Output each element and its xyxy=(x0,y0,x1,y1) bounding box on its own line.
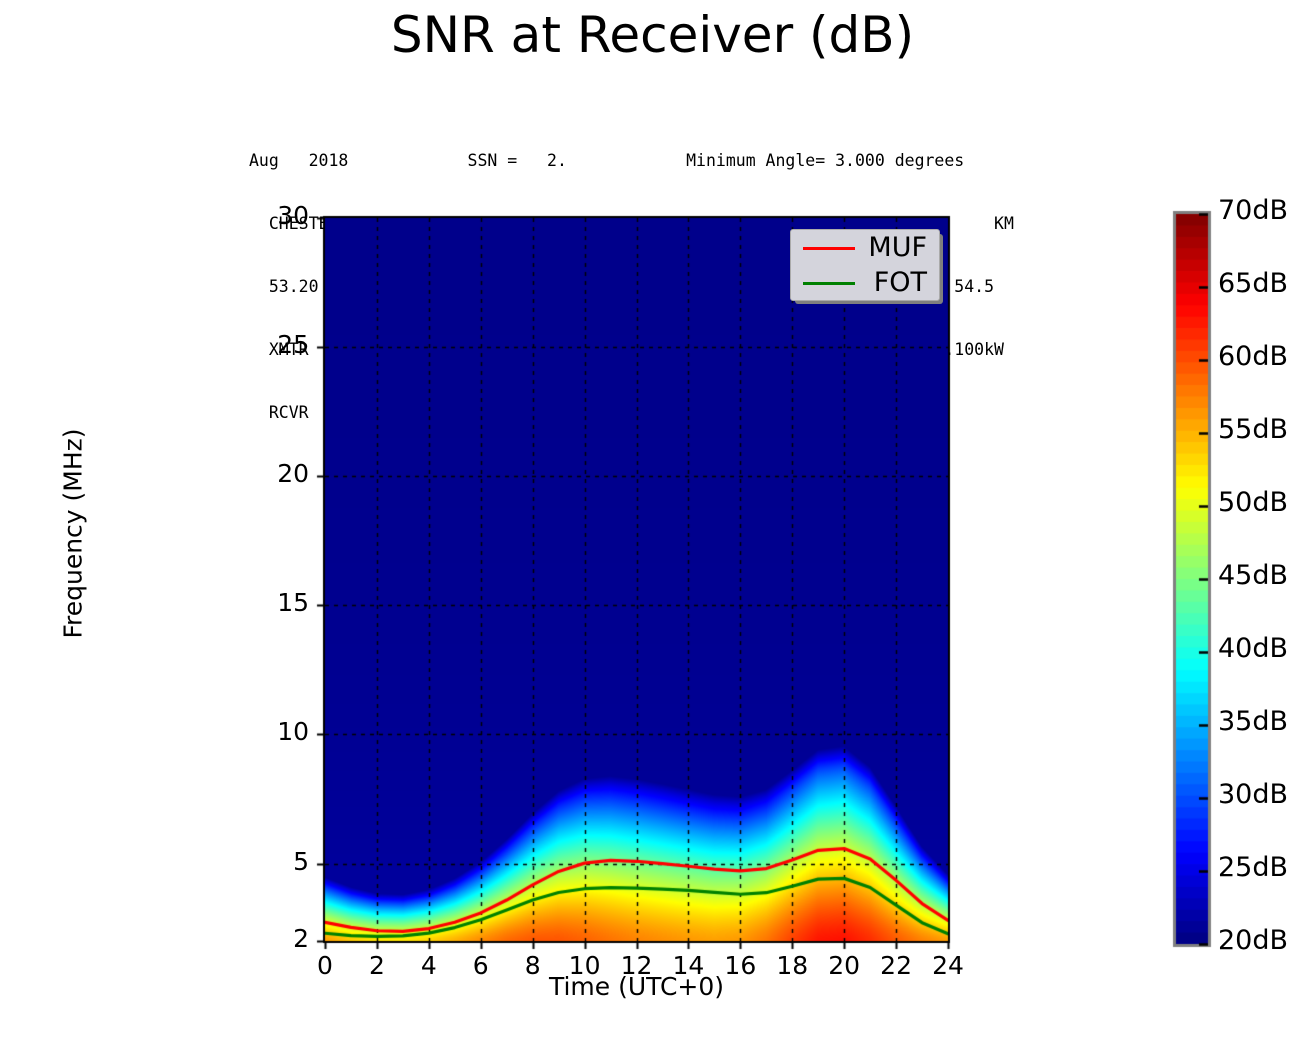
y-tick-label-20: 20 xyxy=(249,459,309,488)
y-tick-label-10: 10 xyxy=(249,717,309,746)
y-axis-label: Frequency (MHz) xyxy=(59,384,88,684)
legend-label-fot: FOT xyxy=(874,267,927,298)
legend-swatch-fot xyxy=(803,282,855,285)
y-tick-label-2: 2 xyxy=(249,924,309,953)
y-tick-label-30: 30 xyxy=(249,201,309,230)
colorbar-tick-label-4: 40dB xyxy=(1218,633,1305,664)
colorbar-tick-label-7: 55dB xyxy=(1218,414,1305,445)
y-tick-label-15: 15 xyxy=(249,588,309,617)
colorbar-tick-label-10: 70dB xyxy=(1218,195,1305,226)
legend-swatch-muf xyxy=(803,247,855,250)
legend-item-fot[interactable]: FOT xyxy=(791,265,939,300)
colorbar-tick-label-5: 45dB xyxy=(1218,560,1305,591)
legend-label-muf: MUF xyxy=(868,232,927,263)
x-tick-label-24: 24 xyxy=(918,951,978,980)
colorbar-tick-label-8: 60dB xyxy=(1218,341,1305,372)
y-tick-label-5: 5 xyxy=(249,847,309,876)
chart-legend[interactable]: MUF FOT xyxy=(790,229,940,301)
colorbar-tick-label-3: 35dB xyxy=(1218,706,1305,737)
colorbar-tick-label-2: 30dB xyxy=(1218,779,1305,810)
colorbar-tick-label-0: 20dB xyxy=(1218,925,1305,956)
snr-heatmap-plot xyxy=(0,0,1305,1044)
legend-item-muf[interactable]: MUF xyxy=(791,230,939,265)
colorbar-tick-label-1: 25dB xyxy=(1218,852,1305,883)
colorbar-tick-label-6: 50dB xyxy=(1218,487,1305,518)
y-tick-label-25: 25 xyxy=(249,330,309,359)
colorbar-tick-label-9: 65dB xyxy=(1218,268,1305,299)
